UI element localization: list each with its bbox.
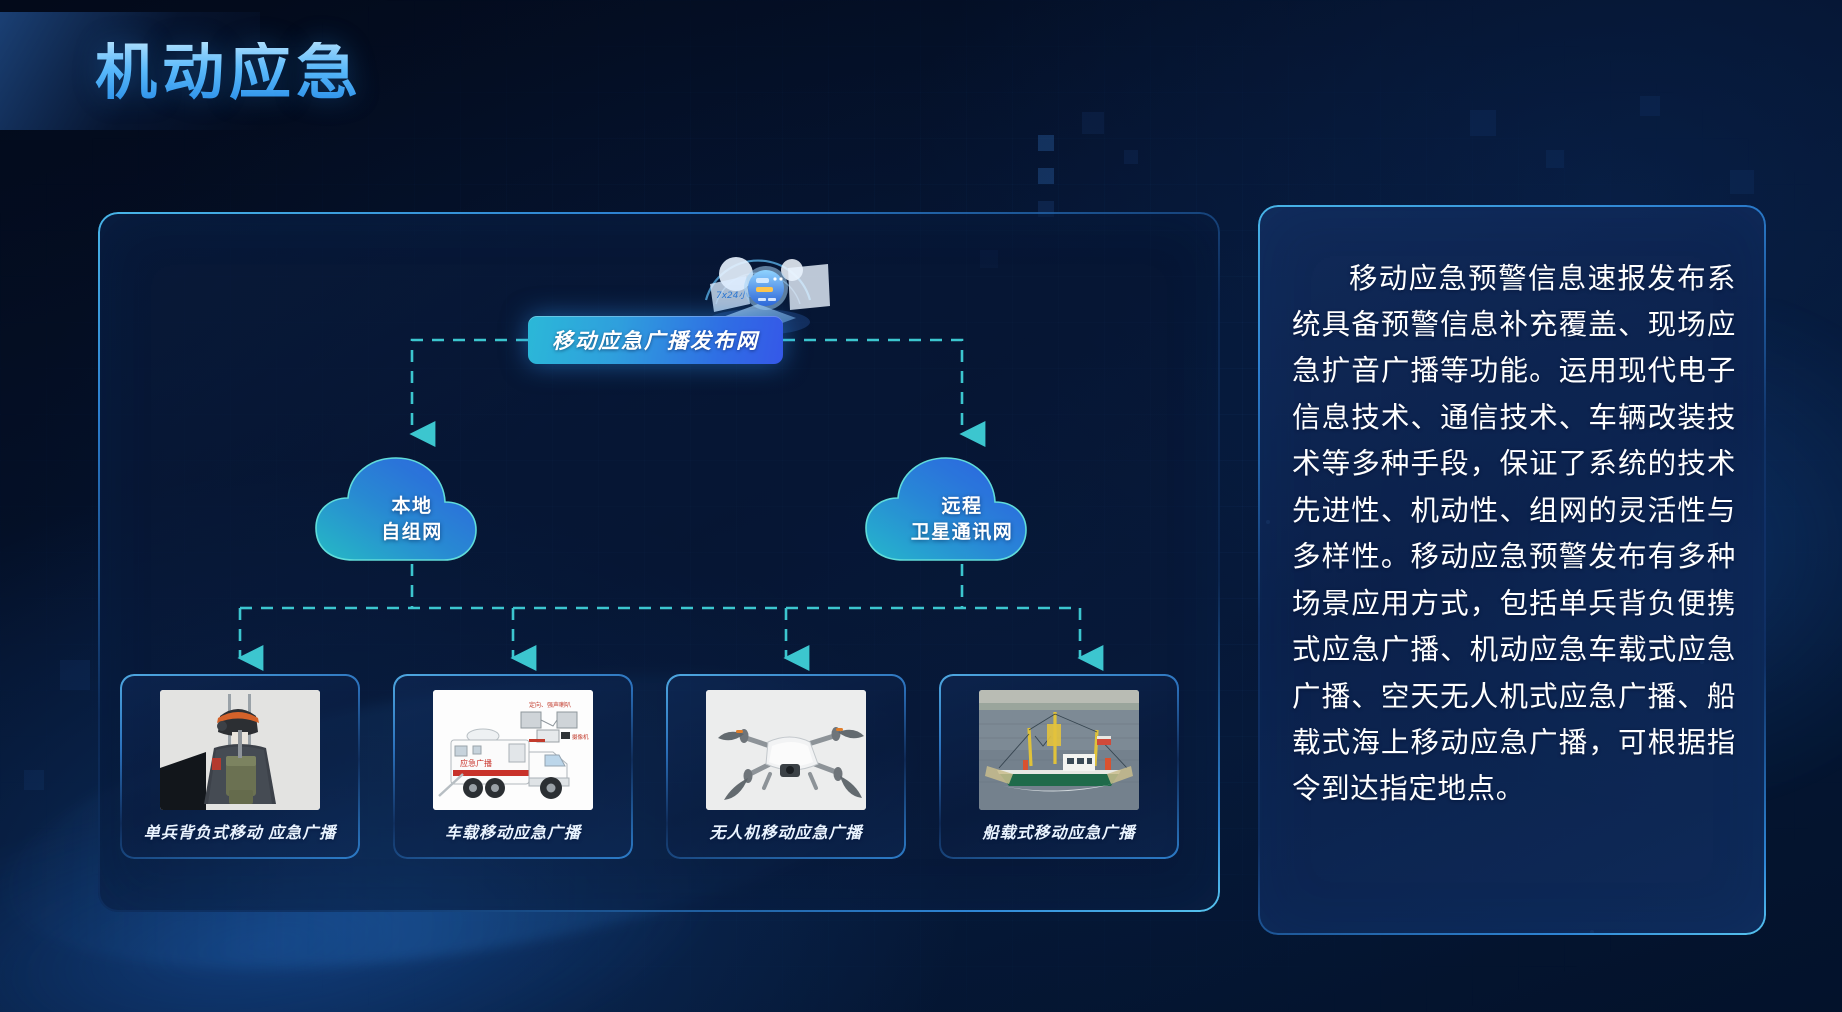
card-fishing-boat[interactable]: 船载式移动应急广播 <box>939 674 1179 859</box>
deco-square <box>24 770 44 790</box>
drone-photo <box>706 690 866 810</box>
thumbnail-drone <box>706 690 866 810</box>
soldier-backpack-photo <box>160 690 320 810</box>
deco-square <box>1038 135 1054 151</box>
page-title: 机动应急 <box>95 42 363 104</box>
card-soldier-backpack[interactable]: 单兵背负式移动 应急广播 <box>120 674 360 859</box>
cloud-local-line2: 自组网 <box>314 520 510 546</box>
cloud-sat-line1: 远程 <box>864 494 1060 520</box>
thumbnail-fishing-boat <box>979 690 1139 810</box>
deco-square <box>1082 112 1104 134</box>
cloud-local-label: 本地 自组网 <box>314 494 510 545</box>
deco-square <box>1640 96 1660 116</box>
cloud-local-line1: 本地 <box>314 494 510 520</box>
cloud-node-local-mesh[interactable]: 本地 自组网 <box>314 450 510 566</box>
deco-square <box>1124 150 1138 164</box>
diagram-canvas: 7x24小时 移动应急广播发布网 <box>98 212 1220 912</box>
cloud-node-satellite-network[interactable]: 远程 卫星通讯网 <box>864 450 1060 566</box>
deco-square <box>1546 150 1564 168</box>
thumbnail-soldier-backpack <box>160 690 320 810</box>
card-broadcast-truck[interactable]: 定向、强声喇叭 摄像机 应急广播 <box>393 674 633 859</box>
deco-square <box>1038 168 1054 184</box>
svg-text:定向、强声喇叭: 定向、强声喇叭 <box>529 701 571 709</box>
deco-square <box>1730 170 1754 194</box>
cloud-sat-line2: 卫星通讯网 <box>864 520 1060 546</box>
description-panel: 移动应急预警信息速报发布系统具备预警信息补充覆盖、现场应急扩音广播等功能。运用现… <box>1258 205 1766 935</box>
root-node-mobile-broadcast-network[interactable]: 移动应急广播发布网 <box>528 316 783 364</box>
thumbnail-broadcast-truck: 定向、强声喇叭 摄像机 应急广播 <box>433 690 593 810</box>
diagram-panel: 7x24小时 移动应急广播发布网 <box>98 212 1220 912</box>
card-caption: 单兵背负式移动 应急广播 <box>120 819 360 843</box>
deco-square <box>60 660 90 690</box>
deco-square <box>1470 110 1496 136</box>
card-caption: 无人机移动应急广播 <box>666 819 906 843</box>
card-drone[interactable]: 无人机移动应急广播 <box>666 674 906 859</box>
card-caption: 船载式移动应急广播 <box>939 819 1179 843</box>
svg-text:摄像机: 摄像机 <box>572 733 589 741</box>
cloud-sat-label: 远程 卫星通讯网 <box>864 494 1060 545</box>
svg-text:应急广播: 应急广播 <box>460 758 492 768</box>
description-paragraph: 移动应急预警信息速报发布系统具备预警信息补充覆盖、现场应急扩音广播等功能。运用现… <box>1292 256 1736 813</box>
card-caption: 车载移动应急广播 <box>393 819 633 843</box>
broadcast-truck-photo: 定向、强声喇叭 摄像机 应急广播 <box>433 690 593 810</box>
root-node-label: 移动应急广播发布网 <box>552 325 759 355</box>
fishing-boat-photo <box>979 690 1139 810</box>
